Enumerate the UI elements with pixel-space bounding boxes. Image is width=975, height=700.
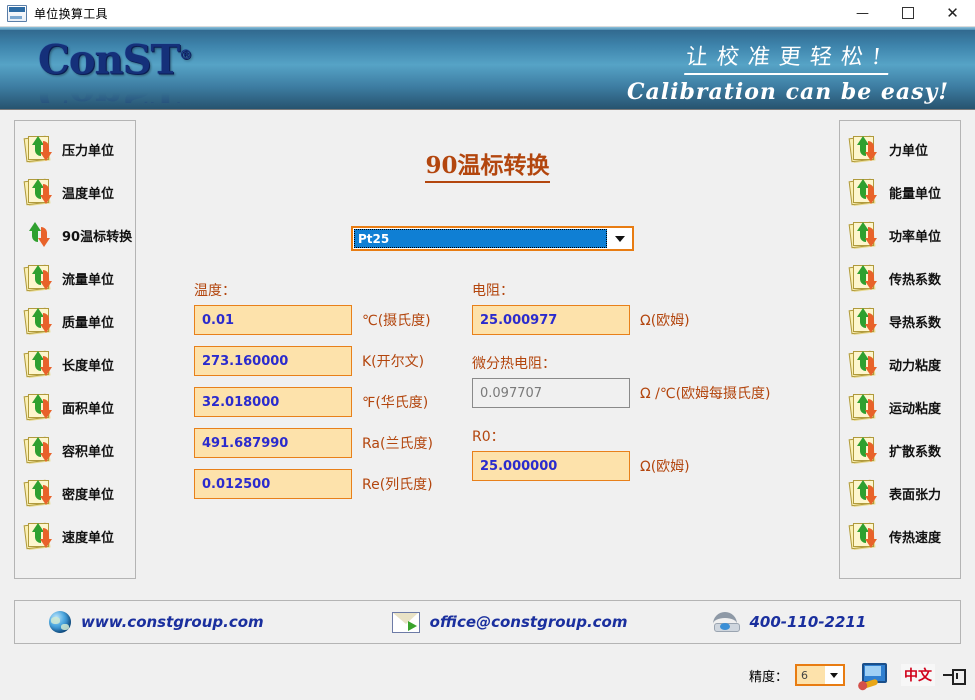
differential-group-label: 微分热电阻： xyxy=(472,353,771,373)
window-controls: — ✕ xyxy=(840,0,975,26)
sidebar-item-label: 压力单位 xyxy=(62,140,114,159)
fahrenheit-input[interactable]: 32.018000 xyxy=(194,387,352,417)
temperature-row-celsius: 0.01 ℃(摄氏度) xyxy=(194,305,433,335)
temperature-row-fahrenheit: 32.018000 ℉(华氏度) xyxy=(194,387,433,417)
sidebar-item-label: 质量单位 xyxy=(62,312,114,331)
sidebar-item-energy[interactable]: 能量单位 xyxy=(850,177,941,207)
convert-icon xyxy=(850,351,880,377)
settings-tool-icon[interactable] xyxy=(859,663,885,687)
convert-icon xyxy=(25,523,55,549)
r0-input[interactable]: 25.000000 xyxy=(472,451,630,481)
sidebar-item-temperature[interactable]: 温度单位 xyxy=(25,177,114,207)
sidebar-item-surface-tension[interactable]: 表面张力 xyxy=(850,478,941,508)
slogan-english: Calibration can be easy! xyxy=(627,79,949,105)
sidebar-item-label: 流量单位 xyxy=(62,269,114,288)
sidebar-item-label: 表面张力 xyxy=(889,484,941,503)
sidebar-item-density[interactable]: 密度单位 xyxy=(25,478,114,508)
sidebar-item-area[interactable]: 面积单位 xyxy=(25,392,114,422)
sidebar-item-label: 扩散系数 xyxy=(889,441,941,460)
convert-icon xyxy=(25,437,55,463)
slogan-chinese: 让校准更轻松! xyxy=(684,39,892,75)
phone-icon xyxy=(713,612,739,632)
rankine-input[interactable]: 491.687990 xyxy=(194,428,352,458)
sidebar-item-label: 90温标转换 xyxy=(62,226,132,245)
convert-icon xyxy=(25,222,55,248)
reaumur-unit-label: Re(列氏度) xyxy=(362,474,433,494)
contact-footer: www.constgroup.com office@constgroup.com… xyxy=(14,600,961,644)
email-label: office@constgroup.com xyxy=(430,613,628,631)
celsius-input[interactable]: 0.01 xyxy=(194,305,352,335)
precision-dropdown-button[interactable] xyxy=(825,666,843,684)
logo-wordmark: ConST® xyxy=(38,35,191,81)
globe-icon xyxy=(49,611,71,633)
sidebar-right: 力单位 能量单位 功率单位 传热系数 导热系数 动力粘度 运动粘度 扩散系数 xyxy=(839,120,961,579)
chevron-down-icon xyxy=(615,236,625,242)
convert-icon xyxy=(25,308,55,334)
sidebar-item-thermal-conductivity[interactable]: 导热系数 xyxy=(850,306,941,336)
sidebar-item-label: 力单位 xyxy=(889,140,928,159)
close-button[interactable]: ✕ xyxy=(930,0,975,26)
convert-icon xyxy=(25,265,55,291)
resistance-unit-label: Ω(欧姆) xyxy=(640,310,690,330)
sidebar-item-diffusion-coefficient[interactable]: 扩散系数 xyxy=(850,435,941,465)
sidebar-item-label: 动力粘度 xyxy=(889,355,941,374)
precision-select[interactable]: 6 xyxy=(795,664,845,686)
app-icon xyxy=(7,5,27,22)
temperature-group-label: 温度： xyxy=(194,280,433,300)
convert-icon xyxy=(850,136,880,162)
sidebar-item-force[interactable]: 力单位 xyxy=(850,134,928,164)
sidebar-item-kinematic-viscosity[interactable]: 运动粘度 xyxy=(850,392,941,422)
main-panel: 90温标转换 Pt25 温度： 0.01 ℃(摄氏度) 273.160000 K… xyxy=(146,120,829,579)
differential-row: 0.097707 Ω /℃(欧姆每摄氏度) xyxy=(472,378,771,408)
sidebar-item-label: 传热速度 xyxy=(889,527,941,546)
sidebar-item-label: 温度单位 xyxy=(62,183,114,202)
convert-icon xyxy=(850,222,880,248)
convert-icon xyxy=(25,480,55,506)
temperature-row-reaumur: 0.012500 Re(列氏度) xyxy=(194,469,433,499)
pin-icon[interactable] xyxy=(943,667,963,683)
sidebar-item-label: 面积单位 xyxy=(62,398,114,417)
sidebar-item-label: 长度单位 xyxy=(62,355,114,374)
resistance-input[interactable]: 25.000977 xyxy=(472,305,630,335)
convert-icon xyxy=(25,351,55,377)
envelope-icon xyxy=(392,612,420,633)
kelvin-input[interactable]: 273.160000 xyxy=(194,346,352,376)
sidebar-item-heat-transfer-rate[interactable]: 传热速度 xyxy=(850,521,941,551)
sidebar-item-power[interactable]: 功率单位 xyxy=(850,220,941,250)
sidebar-item-label: 能量单位 xyxy=(889,183,941,202)
page-title: 90温标转换 xyxy=(146,146,829,180)
sidebar-item-label: 传热系数 xyxy=(889,269,941,288)
fahrenheit-unit-label: ℉(华氏度) xyxy=(362,392,428,412)
sidebar-item-label: 速度单位 xyxy=(62,527,114,546)
sidebar-item-flow[interactable]: 流量单位 xyxy=(25,263,114,293)
sidebar-item-label: 导热系数 xyxy=(889,312,941,331)
resistance-row: 25.000977 Ω(欧姆) xyxy=(472,305,771,335)
brand-banner: ConST® ConST 让校准更轻松! Calibration can be … xyxy=(0,27,975,110)
rankine-unit-label: Ra(兰氏度) xyxy=(362,433,433,453)
minimize-button[interactable]: — xyxy=(840,0,885,26)
sidebar-item-its90[interactable]: 90温标转换 xyxy=(25,220,132,250)
convert-icon xyxy=(850,179,880,205)
title-bar: 单位换算工具 — ✕ xyxy=(0,0,975,27)
sidebar-item-dynamic-viscosity[interactable]: 动力粘度 xyxy=(850,349,941,379)
resistance-group: 电阻： 25.000977 Ω(欧姆) 微分热电阻： 0.097707 Ω /℃… xyxy=(472,280,771,492)
sensor-type-value[interactable]: Pt25 xyxy=(354,229,607,248)
convert-icon xyxy=(25,394,55,420)
maximize-icon xyxy=(902,7,914,19)
sidebar-left: 压力单位 温度单位 90温标转换 流量单位 质量单位 长度单位 面积单位 容积 xyxy=(14,120,136,579)
sensor-type-select[interactable]: Pt25 xyxy=(351,226,634,251)
sidebar-item-mass[interactable]: 质量单位 xyxy=(25,306,114,336)
convert-icon xyxy=(850,437,880,463)
window-title: 单位换算工具 xyxy=(34,5,108,22)
kelvin-unit-label: K(开尔文) xyxy=(362,351,424,371)
sensor-type-label: Pt25 xyxy=(354,232,389,246)
website-label: www.constgroup.com xyxy=(81,613,264,631)
status-bar: 精度： 6 中文 xyxy=(0,650,975,700)
precision-value: 6 xyxy=(797,666,825,684)
sidebar-item-label: 运动粘度 xyxy=(889,398,941,417)
sidebar-item-label: 容积单位 xyxy=(62,441,114,460)
convert-icon xyxy=(25,179,55,205)
page-title-text: 90温标转换 xyxy=(425,152,549,183)
sidebar-item-heat-transfer-coefficient[interactable]: 传热系数 xyxy=(850,263,941,293)
sidebar-item-pressure[interactable]: 压力单位 xyxy=(25,134,114,164)
registered-mark-icon: ® xyxy=(179,48,191,63)
email-link[interactable]: office@constgroup.com xyxy=(392,612,628,633)
language-toggle[interactable]: 中文 xyxy=(901,664,935,686)
content-area: 压力单位 温度单位 90温标转换 流量单位 质量单位 长度单位 面积单位 容积 xyxy=(0,110,975,599)
celsius-unit-label: ℃(摄氏度) xyxy=(362,310,431,330)
logo-text: ConST xyxy=(38,36,179,83)
phone-number: 400-110-2211 xyxy=(713,612,866,632)
convert-icon xyxy=(850,394,880,420)
convert-icon xyxy=(850,265,880,291)
sidebar-item-length[interactable]: 长度单位 xyxy=(25,349,114,379)
sensor-type-dropdown-button[interactable] xyxy=(609,229,631,248)
logo-reflection: ConST xyxy=(38,81,191,103)
temperature-row-rankine: 491.687990 Ra(兰氏度) xyxy=(194,428,433,458)
const-logo: ConST® ConST xyxy=(38,35,191,103)
sidebar-item-volume[interactable]: 容积单位 xyxy=(25,435,114,465)
r0-group-label: R0： xyxy=(472,426,771,446)
precision-label: 精度： xyxy=(749,666,788,685)
convert-icon xyxy=(25,136,55,162)
differential-input: 0.097707 xyxy=(472,378,630,408)
convert-icon xyxy=(850,308,880,334)
resistance-group-label: 电阻： xyxy=(472,280,771,300)
sidebar-item-label: 功率单位 xyxy=(889,226,941,245)
slogan-block: 让校准更轻松! Calibration can be easy! xyxy=(627,39,949,105)
differential-unit-label: Ω /℃(欧姆每摄氏度) xyxy=(640,383,771,403)
spacer xyxy=(472,346,771,353)
temperature-group: 温度： 0.01 ℃(摄氏度) 273.160000 K(开尔文) 32.018… xyxy=(194,280,433,510)
temperature-row-kelvin: 273.160000 K(开尔文) xyxy=(194,346,433,376)
r0-row: 25.000000 Ω(欧姆) xyxy=(472,451,771,481)
website-link[interactable]: www.constgroup.com xyxy=(49,611,264,633)
r0-unit-label: Ω(欧姆) xyxy=(640,456,690,476)
sidebar-item-label: 密度单位 xyxy=(62,484,114,503)
reaumur-input[interactable]: 0.012500 xyxy=(194,469,352,499)
convert-icon xyxy=(850,523,880,549)
spacer xyxy=(472,419,771,426)
sidebar-item-speed[interactable]: 速度单位 xyxy=(25,521,114,551)
maximize-button[interactable] xyxy=(885,0,930,26)
phone-label: 400-110-2211 xyxy=(749,613,866,631)
convert-icon xyxy=(850,480,880,506)
